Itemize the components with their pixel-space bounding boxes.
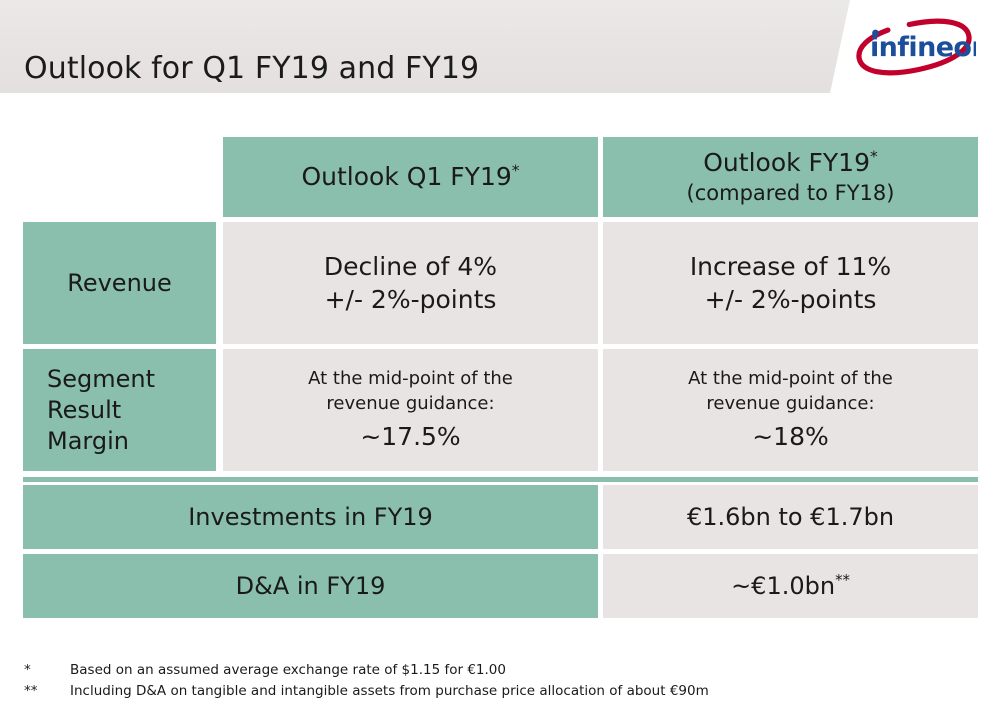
row-label-revenue-text: Revenue [67, 268, 172, 299]
cell-investments-value: €1.6bn to €1.7bn [603, 485, 978, 549]
footnote-marker-2: ** [24, 681, 70, 702]
footnotes: * Based on an assumed average exchange r… [24, 660, 964, 702]
footnote-double-asterisk: ** Including D&A on tangible and intangi… [24, 681, 964, 702]
svg-text:infineon: infineon [870, 32, 976, 63]
asterisk-marker: * [512, 162, 520, 180]
column-header-q1fy19: Outlook Q1 FY19* [223, 137, 598, 217]
row-label-segment-line1: Segment [47, 364, 155, 395]
row-label-investments-text: Investments in FY19 [188, 502, 433, 533]
cell-revenue-fy19-line1: Increase of 11% [690, 250, 891, 283]
row-label-revenue: Revenue [23, 222, 216, 344]
table-row-depreciation-amortization: D&A in FY19 ~€1.0bn** [23, 554, 978, 618]
column-header-fy19-label: Outlook FY19* [703, 147, 878, 179]
cell-segment-q1fy19-value: ~17.5% [360, 420, 460, 454]
column-header-fy19-sublabel: (compared to FY18) [687, 179, 895, 207]
cell-segment-fy19-line2: revenue guidance: [706, 391, 874, 416]
cell-revenue-q1fy19-line1: Decline of 4% [324, 250, 497, 283]
cell-segment-fy19-line1: At the mid-point of the [688, 366, 893, 391]
cell-segment-fy19-value: ~18% [752, 420, 829, 454]
table-row-investments: Investments in FY19 €1.6bn to €1.7bn [23, 485, 978, 549]
table-row-revenue: Revenue Decline of 4% +/- 2%-points Incr… [23, 222, 978, 344]
column-header-fy19: Outlook FY19* (compared to FY18) [603, 137, 978, 217]
cell-revenue-q1fy19: Decline of 4% +/- 2%-points [223, 222, 598, 344]
asterisk-marker: * [870, 148, 878, 166]
footnote-marker-1: * [24, 660, 70, 681]
cell-revenue-q1fy19-line2: +/- 2%-points [325, 283, 497, 316]
row-label-investments: Investments in FY19 [23, 485, 598, 549]
row-label-segment-line2: Result [47, 395, 121, 426]
infineon-logo: infineon [852, 16, 976, 78]
section-divider [23, 477, 978, 482]
table-header-row: Outlook Q1 FY19* Outlook FY19* (compared… [23, 137, 978, 217]
cell-revenue-fy19-line2: +/- 2%-points [705, 283, 877, 316]
cell-da-value-text: ~€1.0bn** [731, 571, 850, 602]
footnote-single-asterisk: * Based on an assumed average exchange r… [24, 660, 964, 681]
cell-investments-value-text: €1.6bn to €1.7bn [687, 502, 894, 533]
cell-da-value: ~€1.0bn** [603, 554, 978, 618]
double-asterisk-marker: ** [835, 571, 850, 589]
footnote-text-2: Including D&A on tangible and intangible… [70, 681, 964, 702]
cell-segment-q1fy19: At the mid-point of the revenue guidance… [223, 349, 598, 471]
cell-segment-q1fy19-line1: At the mid-point of the [308, 366, 513, 391]
page-title: Outlook for Q1 FY19 and FY19 [24, 50, 479, 88]
row-label-da: D&A in FY19 [23, 554, 598, 618]
footnote-text-1: Based on an assumed average exchange rat… [70, 660, 964, 681]
cell-segment-q1fy19-line2: revenue guidance: [326, 391, 494, 416]
table-row-segment-result-margin: Segment Result Margin At the mid-point o… [23, 349, 978, 471]
row-label-segment-result-margin: Segment Result Margin [23, 349, 216, 471]
cell-revenue-fy19: Increase of 11% +/- 2%-points [603, 222, 978, 344]
outlook-table: Outlook Q1 FY19* Outlook FY19* (compared… [23, 137, 978, 624]
row-label-da-text: D&A in FY19 [236, 571, 386, 602]
row-label-segment-line3: Margin [47, 426, 129, 457]
cell-segment-fy19: At the mid-point of the revenue guidance… [603, 349, 978, 471]
column-header-q1fy19-label: Outlook Q1 FY19* [301, 161, 519, 193]
